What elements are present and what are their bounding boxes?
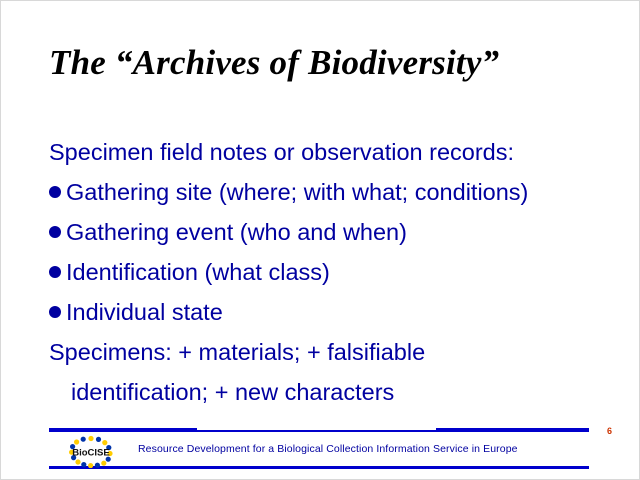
list-item: Identification (what class) <box>49 252 629 292</box>
slide-number: 6 <box>607 425 612 437</box>
closing-line-1: Specimens: + materials; + falsifiable <box>49 339 425 365</box>
list-item-label: Gathering event (who and when) <box>66 212 407 252</box>
closing-line-2: identification; + new characters <box>49 372 629 412</box>
closing-paragraph: Specimens: + materials; + falsifiable id… <box>49 332 629 412</box>
bullet-icon <box>49 306 61 318</box>
footer-top-rule-right-accent <box>436 428 589 432</box>
list-item-label: Individual state <box>66 292 223 332</box>
page-title: The “Archives of Biodiversity” <box>49 43 609 83</box>
biocise-logo-icon: BioCISE <box>67 435 115 468</box>
footer-tagline: Resource Development for a Biological Co… <box>138 443 518 455</box>
list-item: Gathering site (where; with what; condit… <box>49 172 629 212</box>
list-item-label: Identification (what class) <box>66 252 330 292</box>
footer-bottom-rule <box>49 466 589 469</box>
bullet-icon <box>49 186 61 198</box>
presentation-slide: The “Archives of Biodiversity” Specimen … <box>0 0 640 480</box>
footer-top-rule-left-accent <box>49 428 197 432</box>
list-item: Gathering event (who and when) <box>49 212 629 252</box>
list-item-label: Gathering site (where; with what; condit… <box>66 172 528 212</box>
bullet-icon <box>49 226 61 238</box>
list-item: Individual state <box>49 292 629 332</box>
bullet-icon <box>49 266 61 278</box>
biocise-logo-text: BioCISE <box>72 448 109 459</box>
intro-line: Specimen field notes or observation reco… <box>49 132 629 172</box>
slide-body: Specimen field notes or observation reco… <box>49 132 629 412</box>
